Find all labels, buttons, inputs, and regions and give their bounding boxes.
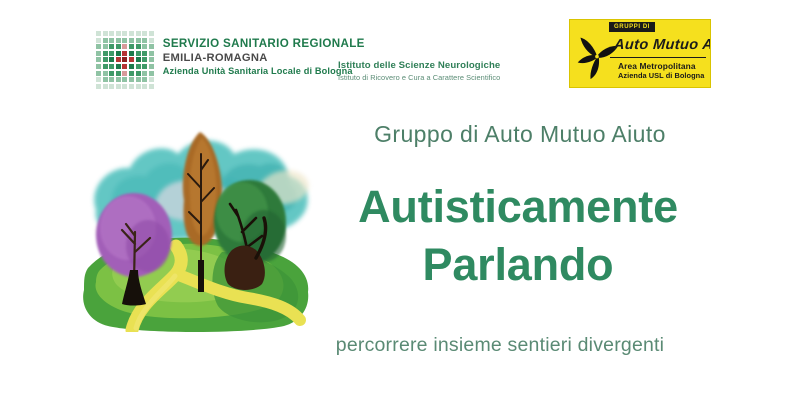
ausl-grid-cell bbox=[129, 51, 134, 56]
ausl-grid-cell bbox=[103, 51, 108, 56]
ausl-grid-cell bbox=[116, 38, 121, 43]
istituto-scienze-neurologiche-logo: Istituto delle Scienze Neurologiche Isti… bbox=[338, 60, 500, 83]
kicker-text: Gruppo di Auto Mutuo Aiuto bbox=[330, 119, 710, 149]
ausl-grid-cell bbox=[103, 84, 108, 89]
ausl-grid-cell bbox=[103, 77, 108, 82]
ausl-grid-cell bbox=[142, 44, 147, 49]
ausl-grid-cell bbox=[109, 31, 114, 36]
ausl-grid-cell bbox=[109, 44, 114, 49]
ausl-checker-grid-icon bbox=[96, 31, 154, 89]
ausl-grid-cell bbox=[129, 84, 134, 89]
ausl-grid-cell bbox=[129, 44, 134, 49]
isnb-logo-line2: Istituto di Ricovero e Cura a Carattere … bbox=[338, 72, 500, 83]
isnb-logo-line1: Istituto delle Scienze Neurologiche bbox=[338, 60, 500, 72]
ausl-grid-cell bbox=[136, 57, 141, 62]
ausl-grid-cell bbox=[149, 77, 154, 82]
ausl-grid-cell bbox=[122, 77, 127, 82]
ausl-logo-line3: Azienda Unità Sanitaria Locale di Bologn… bbox=[163, 65, 365, 78]
ausl-grid-cell bbox=[103, 64, 108, 69]
ama-logo-line2: Azienda USL di Bologna bbox=[618, 71, 704, 80]
title-line-1: Autisticamente bbox=[318, 178, 718, 236]
ausl-grid-cell bbox=[142, 57, 147, 62]
ausl-grid-cell bbox=[149, 84, 154, 89]
ama-divider-rule bbox=[610, 57, 706, 58]
ausl-grid-cell bbox=[149, 51, 154, 56]
ausl-grid-cell bbox=[116, 31, 121, 36]
ausl-grid-cell bbox=[122, 84, 127, 89]
ausl-grid-cell bbox=[116, 44, 121, 49]
ausl-grid-cell bbox=[129, 31, 134, 36]
ausl-grid-cell bbox=[103, 57, 108, 62]
ausl-grid-cell bbox=[142, 38, 147, 43]
ausl-logo-line1: SERVIZIO SANITARIO REGIONALE bbox=[163, 37, 365, 51]
ausl-grid-cell bbox=[96, 57, 101, 62]
ausl-grid-cell bbox=[122, 71, 127, 76]
ausl-grid-cell bbox=[129, 57, 134, 62]
ausl-grid-cell bbox=[149, 57, 154, 62]
ausl-grid-cell bbox=[149, 38, 154, 43]
ausl-grid-cell bbox=[149, 71, 154, 76]
ausl-grid-cell bbox=[136, 31, 141, 36]
ausl-grid-cell bbox=[96, 51, 101, 56]
ausl-grid-cell bbox=[129, 77, 134, 82]
ausl-logo-text: SERVIZIO SANITARIO REGIONALE EMILIA-ROMA… bbox=[163, 31, 365, 78]
ausl-grid-cell bbox=[109, 51, 114, 56]
ausl-grid-cell bbox=[109, 57, 114, 62]
ausl-grid-cell bbox=[122, 31, 127, 36]
ausl-grid-cell bbox=[136, 51, 141, 56]
ausl-grid-cell bbox=[129, 71, 134, 76]
ausl-grid-cell bbox=[116, 71, 121, 76]
ausl-grid-cell bbox=[142, 77, 147, 82]
poster-canvas: SERVIZIO SANITARIO REGIONALE EMILIA-ROMA… bbox=[0, 0, 800, 404]
ausl-grid-cell bbox=[122, 38, 127, 43]
ausl-grid-cell bbox=[136, 38, 141, 43]
ausl-grid-cell bbox=[109, 77, 114, 82]
ausl-grid-cell bbox=[103, 38, 108, 43]
auto-mutuo-aiuto-logo: GRUPPI DI Auto Mutuo Aiuto Area Metropol… bbox=[569, 19, 711, 88]
ausl-grid-cell bbox=[96, 77, 101, 82]
ama-gruppi-di-badge: GRUPPI DI bbox=[609, 22, 655, 32]
ausl-grid-cell bbox=[136, 77, 141, 82]
ausl-grid-cell bbox=[103, 31, 108, 36]
ausl-grid-cell bbox=[96, 38, 101, 43]
page-title: Autisticamente Parlando bbox=[318, 178, 718, 294]
ausl-grid-cell bbox=[109, 71, 114, 76]
ausl-grid-cell bbox=[109, 64, 114, 69]
ausl-grid-cell bbox=[116, 64, 121, 69]
ausl-grid-cell bbox=[96, 64, 101, 69]
servizio-sanitario-regionale-logo: SERVIZIO SANITARIO REGIONALE EMILIA-ROMA… bbox=[96, 31, 365, 89]
ausl-grid-cell bbox=[122, 44, 127, 49]
ausl-grid-cell bbox=[129, 64, 134, 69]
ausl-grid-cell bbox=[96, 84, 101, 89]
ausl-grid-cell bbox=[142, 31, 147, 36]
ausl-grid-cell bbox=[142, 84, 147, 89]
ausl-grid-cell bbox=[96, 31, 101, 36]
ausl-grid-cell bbox=[136, 64, 141, 69]
ausl-grid-cell bbox=[116, 51, 121, 56]
ausl-grid-cell bbox=[122, 64, 127, 69]
ausl-grid-cell bbox=[109, 84, 114, 89]
ama-script-title: Auto Mutuo Aiuto bbox=[613, 37, 711, 53]
ama-logo-line1: Area Metropolitana bbox=[618, 61, 696, 71]
ausl-grid-cell bbox=[149, 64, 154, 69]
ausl-grid-cell bbox=[109, 38, 114, 43]
watercolor-forest-path-illustration bbox=[72, 92, 322, 332]
ausl-grid-cell bbox=[96, 71, 101, 76]
ausl-grid-cell bbox=[142, 64, 147, 69]
ausl-grid-cell bbox=[116, 57, 121, 62]
ausl-grid-cell bbox=[122, 51, 127, 56]
ausl-grid-cell bbox=[96, 44, 101, 49]
ausl-grid-cell bbox=[149, 44, 154, 49]
subtitle-text: percorrere insieme sentieri divergenti bbox=[300, 332, 700, 358]
title-line-2: Parlando bbox=[318, 236, 718, 294]
ausl-grid-cell bbox=[116, 77, 121, 82]
ausl-grid-cell bbox=[142, 51, 147, 56]
ausl-grid-cell bbox=[136, 44, 141, 49]
ausl-grid-cell bbox=[136, 71, 141, 76]
ausl-grid-cell bbox=[136, 84, 141, 89]
ausl-grid-cell bbox=[142, 71, 147, 76]
ausl-grid-cell bbox=[122, 57, 127, 62]
ausl-grid-cell bbox=[149, 31, 154, 36]
ausl-grid-cell bbox=[116, 84, 121, 89]
ausl-grid-cell bbox=[103, 71, 108, 76]
ausl-grid-cell bbox=[129, 38, 134, 43]
ausl-grid-cell bbox=[103, 44, 108, 49]
ausl-logo-line2: EMILIA-ROMAGNA bbox=[163, 51, 365, 65]
